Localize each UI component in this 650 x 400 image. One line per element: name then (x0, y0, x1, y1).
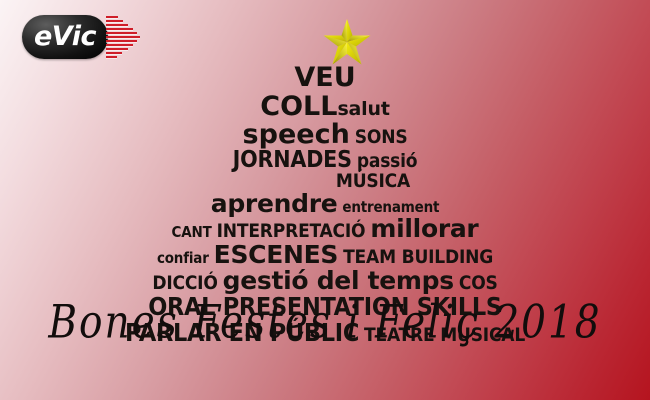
word-row: confiar ESCENES TEAM BUILDING (0, 240, 650, 269)
word-veu: VEU (294, 62, 355, 93)
word-cos: COS (459, 272, 498, 294)
word-team-building: TEAM BUILDING (343, 246, 493, 268)
star-icon (322, 18, 372, 66)
word-row: DICCIÓ gestió del temps COS (0, 266, 650, 295)
word-diccio: DICCIÓ (152, 272, 217, 294)
word-sons: SONS (355, 128, 408, 148)
word-aprendre: aprendre (211, 189, 338, 218)
word-musica: MÚSICA (336, 170, 410, 192)
word-row: CANT INTERPRETACIÓ millorar (0, 214, 650, 243)
word-row: VEU (0, 62, 650, 93)
logo-wordmark: eVic (22, 15, 108, 59)
word-interpretacio: INTERPRETACIÓ (217, 220, 366, 242)
word-cant: CANT (172, 223, 212, 241)
word-escenes: ESCENES (214, 240, 338, 269)
word-salut: salut (337, 98, 389, 120)
word-row: COLL salut (0, 91, 650, 122)
logo-arrow-icon (106, 16, 140, 58)
word-speech: speech (243, 119, 350, 150)
evic-logo[interactable]: eVic (22, 13, 140, 61)
word-jornades: JORNADES (233, 147, 352, 173)
word-confiar: confiar (157, 249, 209, 267)
word-stack-right: SONS (355, 128, 408, 148)
greeting-text: Bones Festes i Feliç 2018 (0, 296, 650, 349)
word-passio: passió (357, 150, 418, 172)
word-row: speech SONS (0, 119, 650, 150)
greeting-card: eVic (0, 0, 650, 400)
word-coll: COLL (260, 91, 337, 122)
word-millorar: millorar (370, 214, 478, 243)
word-gestio-del-temps: gestió del temps (223, 266, 454, 295)
